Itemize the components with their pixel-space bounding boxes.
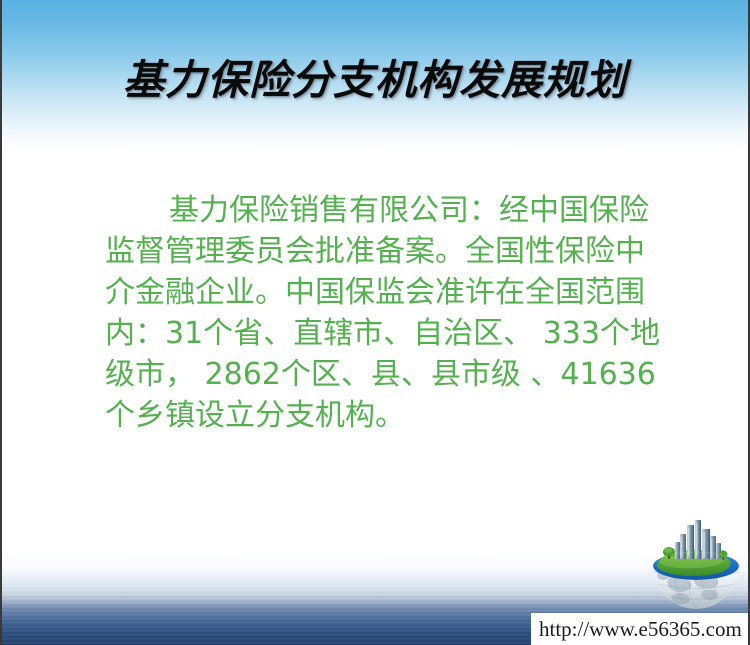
globe-city-icon [647,516,745,612]
watermark-banner: http://www.e56365.com [531,613,750,645]
sky-gradient-band [2,0,748,150]
body-paragraph: 基力保险销售有限公司：经中国保险监督管理委员会批准备案。全国性保险中介金融企业。… [105,190,665,436]
ocean-haze-overlay [2,581,748,607]
watermark-url: http://www.e56365.com [531,617,742,642]
body-text-container: 基力保险销售有限公司：经中国保险监督管理委员会批准备案。全国性保险中介金融企业。… [105,190,665,436]
presentation-slide: 基力保险分支机构发展规划 基力保险销售有限公司：经中国保险监督管理委员会批准备案… [0,0,750,645]
